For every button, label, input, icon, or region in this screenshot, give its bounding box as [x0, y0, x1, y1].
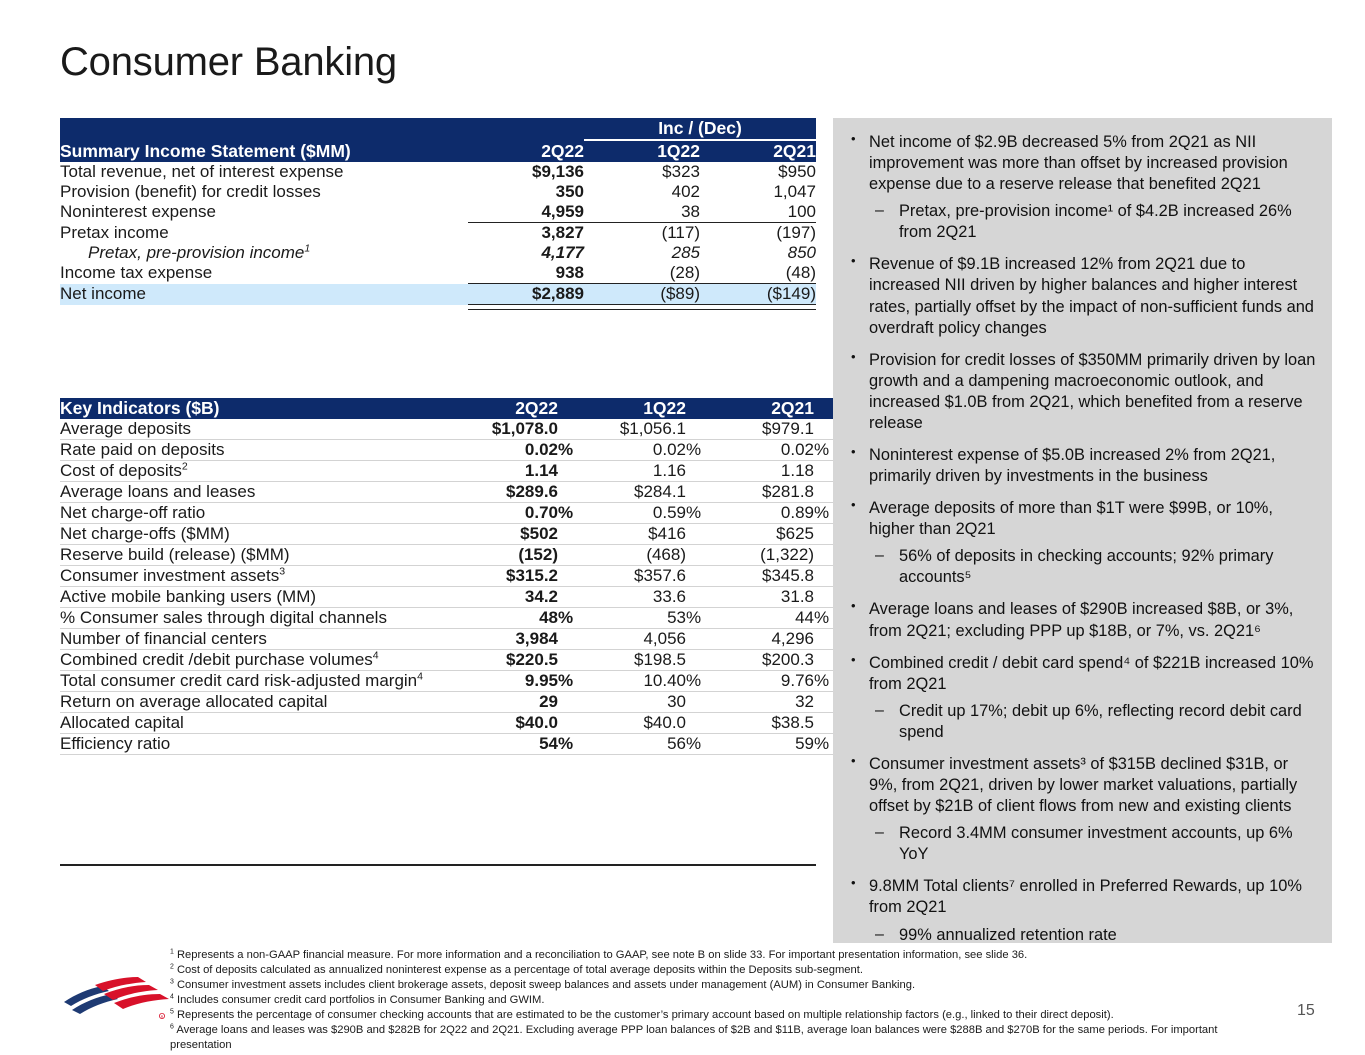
footnote-text: Includes consumer credit card portfolios…	[174, 994, 545, 1006]
income-total-underline	[60, 305, 816, 310]
page-number: 15	[1297, 1002, 1315, 1020]
row-value-1q22: 53	[586, 608, 686, 629]
row-value-1q22: $198.5	[586, 650, 686, 671]
income-header-row: Summary Income Statement ($MM) 2Q22 1Q22…	[60, 140, 816, 162]
row-value-2q22: 34.2	[458, 587, 558, 608]
row-percent-sign	[558, 566, 586, 587]
row-percent-sign	[686, 587, 714, 608]
row-value-2q22: $502	[458, 524, 558, 545]
table-row: Return on average allocated capital29303…	[60, 692, 842, 713]
commentary-sub-list: Record 3.4MM consumer investment account…	[869, 823, 1316, 865]
row-value-2q22: $1,078.0	[458, 419, 558, 440]
row-value-1q22: $40.0	[586, 713, 686, 734]
commentary-bullet: Average deposits of more than $1T were $…	[843, 498, 1316, 588]
footnotes-block: 1 Represents a non-GAAP financial measur…	[170, 948, 1280, 1055]
row-value-2q22: 4,177	[468, 243, 584, 263]
row-label: Noninterest expense	[60, 202, 468, 223]
commentary-bullet: Average loans and leases of $290B increa…	[843, 599, 1316, 641]
row-label: Total revenue, net of interest expense	[60, 162, 468, 182]
row-value-2q21: $950	[700, 162, 816, 182]
row-value-2q21: 100	[700, 202, 816, 223]
key-header-row: Key Indicators ($B) 2Q22 1Q22 2Q21	[60, 398, 842, 419]
row-percent-sign	[686, 650, 714, 671]
row-label: Average deposits	[60, 419, 458, 440]
row-percent-sign: %	[686, 440, 714, 461]
row-label: Rate paid on deposits	[60, 440, 458, 461]
row-value-2q21: (48)	[700, 263, 816, 284]
row-value-2q21: $38.5	[714, 713, 814, 734]
key-table-title: Key Indicators ($B)	[60, 398, 458, 419]
commentary-sub-bullet: Credit up 17%; debit up 6%, reflecting r…	[869, 701, 1316, 743]
row-percent-sign	[558, 692, 586, 713]
table-row: Net charge-offs ($MM)$502$416$625	[60, 524, 842, 545]
row-value-1q22: (117)	[584, 223, 700, 244]
row-value-2q22: 54	[458, 734, 558, 755]
bank-of-america-flagscape-logo: R	[62, 972, 174, 1028]
row-percent-sign	[558, 545, 586, 566]
commentary-bullet-text: 9.8MM Total clients⁷ enrolled in Preferr…	[869, 877, 1302, 916]
row-value-2q22: 0.70	[458, 503, 558, 524]
commentary-bullet-text: Net income of $2.9B decreased 5% from 2Q…	[869, 133, 1288, 193]
page-title: Consumer Banking	[60, 40, 397, 85]
table-row: Provision (benefit) for credit losses 35…	[60, 182, 816, 202]
row-value-2q22: $315.2	[458, 566, 558, 587]
row-value-2q21: 31.8	[714, 587, 814, 608]
row-percent-sign	[686, 713, 714, 734]
row-value-2q22: 9.95	[458, 671, 558, 692]
footnote-item: 6 Average loans and leases was $290B and…	[170, 1023, 1280, 1055]
row-value-2q21: 0.02	[714, 440, 814, 461]
table-row: Net charge-off ratio0.70%0.59%0.89%	[60, 503, 842, 524]
spacer-cell	[60, 118, 468, 140]
income-col-2q22: 2Q22	[468, 140, 584, 162]
commentary-bullet-text: Provision for credit losses of $350MM pr…	[869, 351, 1315, 432]
income-col-2q21: 2Q21	[700, 140, 816, 162]
row-label: Provision (benefit) for credit losses	[60, 182, 468, 202]
row-value-2q21: $345.8	[714, 566, 814, 587]
row-value-2q22: 0.02	[458, 440, 558, 461]
row-percent-sign	[686, 566, 714, 587]
row-value-1q22: ($89)	[584, 284, 700, 305]
row-value-2q22: $40.0	[458, 713, 558, 734]
row-value-1q22: 1.16	[586, 461, 686, 482]
table-row: Rate paid on deposits0.02%0.02%0.02%	[60, 440, 842, 461]
footnote-item: 3 Consumer investment assets includes cl…	[170, 978, 1280, 993]
row-value-2q22: 350	[468, 182, 584, 202]
row-percent-sign	[686, 461, 714, 482]
key-indicators-bottom-rule	[60, 864, 816, 866]
row-value-2q21: (1,322)	[714, 545, 814, 566]
commentary-sub-list: 99% annualized retention rate	[869, 925, 1316, 946]
row-value-1q22: 0.02	[586, 440, 686, 461]
row-value-2q22: 29	[458, 692, 558, 713]
key-col-1q22: 1Q22	[586, 398, 686, 419]
row-value-1q22: $1,056.1	[586, 419, 686, 440]
row-value-1q22: 4,056	[586, 629, 686, 650]
table-row: Number of financial centers3,9844,0564,2…	[60, 629, 842, 650]
row-percent-sign	[686, 419, 714, 440]
footnote-text: Represents a non-GAAP financial measure.…	[174, 949, 1027, 961]
row-value-2q22: $220.5	[458, 650, 558, 671]
footnote-marker: 1	[304, 242, 310, 254]
spacer-cell	[468, 118, 584, 140]
row-value-2q21: 1.18	[714, 461, 814, 482]
row-value-2q22: 1.14	[458, 461, 558, 482]
commentary-bullet: Net income of $2.9B decreased 5% from 2Q…	[843, 132, 1316, 243]
row-percent-sign: %	[686, 503, 714, 524]
commentary-bullet: Consumer investment assets³ of $315B dec…	[843, 754, 1316, 865]
row-percent-sign	[558, 524, 586, 545]
footnote-item: 1 Represents a non-GAAP financial measur…	[170, 948, 1280, 963]
row-percent-sign	[558, 629, 586, 650]
row-percent-sign	[558, 419, 586, 440]
commentary-bullet: Provision for credit losses of $350MM pr…	[843, 350, 1316, 434]
commentary-bullet: Combined credit / debit card spend⁴ of $…	[843, 653, 1316, 743]
row-value-2q22: 48	[458, 608, 558, 629]
table-row: Noninterest expense 4,959 38 100	[60, 202, 816, 223]
table-row: Cost of deposits21.141.161.18	[60, 461, 842, 482]
key-indicators-table: Key Indicators ($B) 2Q22 1Q22 2Q21 Avera…	[60, 398, 842, 755]
income-table-title: Summary Income Statement ($MM)	[60, 140, 468, 162]
row-percent-sign	[686, 545, 714, 566]
row-value-2q21: ($149)	[700, 284, 816, 305]
table-row: Pretax income 3,827 (117) (197)	[60, 223, 816, 244]
row-label-text: Pretax, pre-provision income	[88, 243, 304, 262]
row-value-1q22: 10.40	[586, 671, 686, 692]
row-value-1q22: 285	[584, 243, 700, 263]
row-label: Consumer investment assets3	[60, 566, 458, 587]
commentary-bullet: Revenue of $9.1B increased 12% from 2Q21…	[843, 254, 1316, 338]
row-label: Average loans and leases	[60, 482, 458, 503]
row-label: % Consumer sales through digital channel…	[60, 608, 458, 629]
row-value-2q21: 44	[714, 608, 814, 629]
commentary-bullet-text: Average loans and leases of $290B increa…	[869, 600, 1293, 639]
footnote-item: 5 Represents the percentage of consumer …	[170, 1008, 1280, 1023]
row-value-1q22: $284.1	[586, 482, 686, 503]
table-row: Average deposits$1,078.0$1,056.1$979.1	[60, 419, 842, 440]
table-row: Total consumer credit card risk-adjusted…	[60, 671, 842, 692]
row-value-1q22: 56	[586, 734, 686, 755]
row-value-2q21: 4,296	[714, 629, 814, 650]
row-value-1q22: $416	[586, 524, 686, 545]
table-row: Pretax, pre-provision income1 4,177 285 …	[60, 243, 816, 263]
commentary-sub-bullet: Record 3.4MM consumer investment account…	[869, 823, 1316, 865]
row-percent-sign: %	[558, 440, 586, 461]
row-value-2q22: $289.6	[458, 482, 558, 503]
footnote-item: 4 Includes consumer credit card portfoli…	[170, 993, 1280, 1008]
commentary-bullet-text: Consumer investment assets³ of $315B dec…	[869, 755, 1297, 815]
table-row: Income tax expense 938 (28) (48)	[60, 263, 816, 284]
row-label: Total consumer credit card risk-adjusted…	[60, 671, 458, 692]
slide-canvas: Consumer Banking Inc / (Dec) Summary Inc…	[0, 0, 1365, 1055]
table-row: % Consumer sales through digital channel…	[60, 608, 842, 629]
row-value-2q21: $200.3	[714, 650, 814, 671]
table-row: Total revenue, net of interest expense $…	[60, 162, 816, 182]
row-value-2q21: 59	[714, 734, 814, 755]
commentary-bullet: Noninterest expense of $5.0B increased 2…	[843, 445, 1316, 487]
footnote-marker: 4	[373, 649, 379, 661]
row-percent-sign	[558, 482, 586, 503]
footnote-marker: 3	[279, 565, 285, 577]
row-value-1q22: $357.6	[586, 566, 686, 587]
commentary-bullet-text: Revenue of $9.1B increased 12% from 2Q21…	[869, 255, 1314, 336]
row-value-1q22: 0.59	[586, 503, 686, 524]
footnote-marker: 4	[417, 670, 423, 682]
commentary-bullet-text: Average deposits of more than $1T were $…	[869, 499, 1273, 538]
row-value-2q22: $9,136	[468, 162, 584, 182]
table-row: Reserve build (release) ($MM)(152)(468)(…	[60, 545, 842, 566]
row-value-2q22: 3,984	[458, 629, 558, 650]
row-value-1q22: (28)	[584, 263, 700, 284]
table-row: Efficiency ratio54%56%59%	[60, 734, 842, 755]
row-percent-sign	[558, 650, 586, 671]
row-value-2q21: 32	[714, 692, 814, 713]
row-value-2q21: $979.1	[714, 419, 814, 440]
footnote-text: Consumer investment assets includes clie…	[174, 979, 915, 991]
income-inc-dec-label: Inc / (Dec)	[584, 118, 816, 140]
row-label: Cost of deposits2	[60, 461, 458, 482]
row-value-2q22: 938	[468, 263, 584, 284]
row-value-1q22: 402	[584, 182, 700, 202]
row-label: Net charge-offs ($MM)	[60, 524, 458, 545]
row-value-1q22: (468)	[586, 545, 686, 566]
commentary-sub-bullet: Pretax, pre-provision income¹ of $4.2B i…	[869, 201, 1316, 243]
commentary-bullet-text: Noninterest expense of $5.0B increased 2…	[869, 446, 1275, 485]
row-value-1q22: 30	[586, 692, 686, 713]
row-percent-sign: %	[558, 608, 586, 629]
key-col-2q22: 2Q22	[458, 398, 558, 419]
footnote-item: 2 Cost of deposits calculated as annuali…	[170, 963, 1280, 978]
table-row: Combined credit /debit purchase volumes4…	[60, 650, 842, 671]
row-label: Pretax income	[60, 223, 468, 244]
commentary-sub-list: Credit up 17%; debit up 6%, reflecting r…	[869, 701, 1316, 743]
row-percent-sign	[686, 629, 714, 650]
row-label: Efficiency ratio	[60, 734, 458, 755]
income-col-1q22: 1Q22	[584, 140, 700, 162]
key-col-2q21: 2Q21	[714, 398, 814, 419]
commentary-panel: Net income of $2.9B decreased 5% from 2Q…	[833, 118, 1332, 943]
row-label: Number of financial centers	[60, 629, 458, 650]
row-value-2q21: (197)	[700, 223, 816, 244]
row-label: Active mobile banking users (MM)	[60, 587, 458, 608]
row-percent-sign	[558, 461, 586, 482]
row-value-1q22: 38	[584, 202, 700, 223]
row-label: Net income	[60, 284, 468, 305]
row-percent-sign: %	[686, 608, 714, 629]
footnote-text: Average loans and leases was $290B and $…	[170, 1024, 1218, 1051]
row-percent-sign	[686, 524, 714, 545]
table-row: Average loans and leases$289.6$284.1$281…	[60, 482, 842, 503]
row-percent-sign	[558, 587, 586, 608]
row-percent-sign	[558, 713, 586, 734]
row-value-1q22: 33.6	[586, 587, 686, 608]
row-value-2q22: 3,827	[468, 223, 584, 244]
row-value-2q21: 850	[700, 243, 816, 263]
table-row: Active mobile banking users (MM)34.233.6…	[60, 587, 842, 608]
row-label: Net charge-off ratio	[60, 503, 458, 524]
commentary-sub-list: 56% of deposits in checking accounts; 92…	[869, 546, 1316, 588]
commentary-sub-list: Pretax, pre-provision income¹ of $4.2B i…	[869, 201, 1316, 243]
commentary-bullet-text: Combined credit / debit card spend⁴ of $…	[869, 654, 1313, 693]
row-label: Reserve build (release) ($MM)	[60, 545, 458, 566]
footnote-text: Cost of deposits calculated as annualize…	[174, 964, 863, 976]
footnote-marker: 2	[182, 460, 188, 472]
row-value-2q22: (152)	[458, 545, 558, 566]
footnote-text: Represents the percentage of consumer ch…	[174, 1009, 1114, 1021]
income-header-incdec-row: Inc / (Dec)	[60, 118, 816, 140]
row-label: Allocated capital	[60, 713, 458, 734]
row-percent-sign: %	[686, 671, 714, 692]
row-label: Return on average allocated capital	[60, 692, 458, 713]
table-row-net-income: Net income $2,889 ($89) ($149)	[60, 284, 816, 305]
commentary-sub-bullet: 99% annualized retention rate	[869, 925, 1316, 946]
table-row: Allocated capital$40.0$40.0$38.5	[60, 713, 842, 734]
row-label: Combined credit /debit purchase volumes4	[60, 650, 458, 671]
row-percent-sign: %	[558, 503, 586, 524]
row-value-2q22: 4,959	[468, 202, 584, 223]
row-percent-sign	[686, 482, 714, 503]
row-value-2q22: $2,889	[468, 284, 584, 305]
row-value-2q21: 0.89	[714, 503, 814, 524]
row-value-1q22: $323	[584, 162, 700, 182]
summary-income-statement-table: Inc / (Dec) Summary Income Statement ($M…	[60, 118, 816, 310]
row-value-2q21: 1,047	[700, 182, 816, 202]
table-row: Consumer investment assets3$315.2$357.6$…	[60, 566, 842, 587]
commentary-sub-bullet: 56% of deposits in checking accounts; 92…	[869, 546, 1316, 588]
row-percent-sign	[686, 692, 714, 713]
row-label: Pretax, pre-provision income1	[60, 243, 468, 263]
row-value-2q21: $625	[714, 524, 814, 545]
row-percent-sign: %	[558, 671, 586, 692]
row-percent-sign: %	[686, 734, 714, 755]
commentary-bullet: 9.8MM Total clients⁷ enrolled in Preferr…	[843, 876, 1316, 945]
row-label: Income tax expense	[60, 263, 468, 284]
row-value-2q21: $281.8	[714, 482, 814, 503]
row-percent-sign: %	[558, 734, 586, 755]
commentary-bullet-list: Net income of $2.9B decreased 5% from 2Q…	[843, 132, 1316, 946]
row-value-2q21: 9.76	[714, 671, 814, 692]
